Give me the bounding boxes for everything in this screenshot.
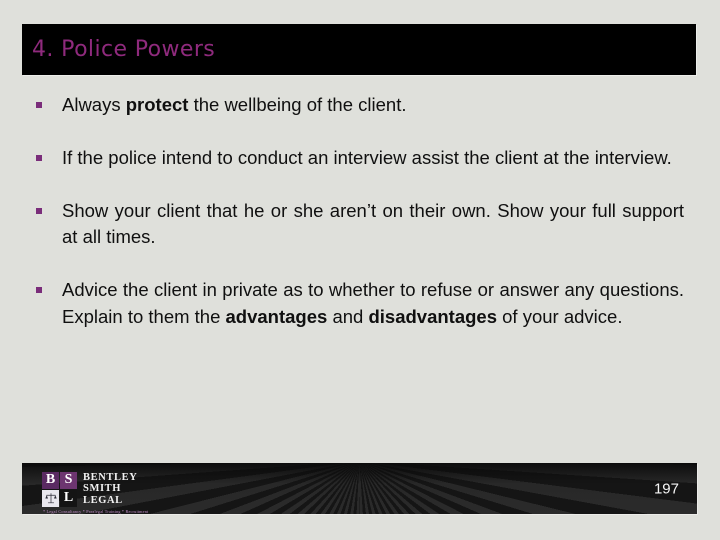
bullet-4-part-4-bold: disadvantages <box>368 306 497 327</box>
slide-body: Always protect the wellbeing of the clie… <box>36 92 684 442</box>
logo-word-legal: LEGAL <box>83 495 137 507</box>
bullet-4-part-3: and <box>327 306 368 327</box>
scales-of-justice-icon <box>42 490 59 507</box>
slide-title-bar: 4. Police Powers <box>22 24 696 75</box>
square-bullet-icon <box>36 287 42 293</box>
bullet-text-1: Always protect the wellbeing of the clie… <box>62 92 684 119</box>
logo-letter-s: S <box>60 472 77 489</box>
square-bullet-icon <box>36 102 42 108</box>
logo-letter-b: B <box>42 472 59 489</box>
logo-tagline: * Legal Consultancy * Paralegal Training… <box>43 509 148 514</box>
logo-word-smith: SMITH <box>83 483 137 495</box>
logo-wordmark: BENTLEY SMITH LEGAL <box>83 472 137 507</box>
bullet-1-part-3: the wellbeing of the client. <box>188 94 406 115</box>
bullet-4-part-5: of your advice. <box>497 306 622 327</box>
bullet-text-4: Advice the client in private as to wheth… <box>62 277 684 331</box>
square-bullet-icon <box>36 155 42 161</box>
square-bullet-icon <box>36 208 42 214</box>
page-title: 4. Police Powers <box>32 37 215 62</box>
list-item: Advice the client in private as to wheth… <box>36 277 684 331</box>
bullet-text-2: If the police intend to conduct an inter… <box>62 145 684 172</box>
bullet-4-part-2-bold: advantages <box>226 306 328 327</box>
logo-word-bentley: BENTLEY <box>83 472 137 484</box>
logo-initials-grid: B S L <box>42 472 77 507</box>
list-item: Show your client that he or she aren’t o… <box>36 198 684 252</box>
page-number: 197 <box>654 480 679 497</box>
bullet-3-part-1: Show your client that he or she aren’t o… <box>62 200 684 248</box>
bullet-text-3: Show your client that he or she aren’t o… <box>62 198 684 252</box>
bullet-1-part-1: Always <box>62 94 126 115</box>
bullet-1-part-2-bold: protect <box>126 94 189 115</box>
bullet-2-part-1: If the police intend to conduct an inter… <box>62 147 672 168</box>
list-item: Always protect the wellbeing of the clie… <box>36 92 684 119</box>
bentley-smith-legal-logo: B S L BENTLEY <box>42 469 137 509</box>
slide-canvas: 4. Police Powers Always protect the well… <box>0 0 720 540</box>
slide-footer: B S L BENTLEY <box>22 463 697 514</box>
list-item: If the police intend to conduct an inter… <box>36 145 684 172</box>
logo-letter-l: L <box>60 490 77 507</box>
